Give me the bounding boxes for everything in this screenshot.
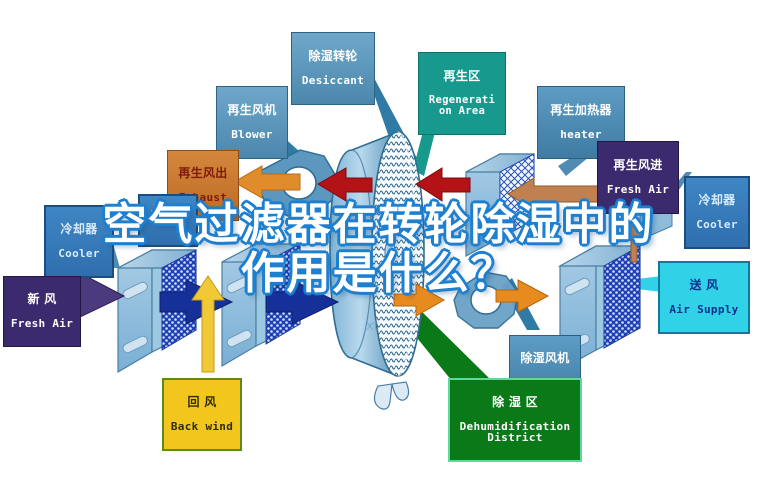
label-fresh-air-inlet[interactable]: 新 风 Fresh Air (3, 276, 81, 347)
label-regeneration-fresh-air[interactable]: 再生风进 Fresh Air (597, 141, 679, 214)
label-regeneration-heater-cn: 再生加热器 (540, 104, 622, 117)
diagram-canvas: xt (0, 0, 757, 488)
label-regeneration-area[interactable]: 再生区 Regenerati on Area (418, 52, 506, 135)
label-cooler-left[interactable]: 冷却器 Cooler (44, 205, 114, 278)
label-regeneration-fresh-air-en: Fresh Air (600, 184, 676, 196)
label-regeneration-blower[interactable]: 再生风机 Blower (216, 86, 288, 159)
label-desiccant-wheel-cn: 除湿转轮 (294, 50, 372, 63)
arrow-supply-blue-2 (266, 280, 338, 324)
label-cooler-mid-cn: 冷却器 (142, 210, 194, 222)
label-regeneration-heater-en: heater (540, 129, 622, 141)
label-back-wind-en: Back wind (166, 421, 238, 433)
label-back-wind-cn: 回 风 (166, 396, 238, 409)
label-regeneration-area-cn: 再生区 (421, 70, 503, 83)
label-dehumidification-district-en: Dehumidification District (452, 421, 578, 444)
arrow-dehum-orange-1 (394, 284, 444, 316)
label-cooler-right-en: Cooler (688, 219, 746, 231)
label-fresh-air-inlet-cn: 新 风 (6, 293, 78, 306)
arrow-regen-fresh-air-riser (625, 214, 643, 262)
label-fresh-air-inlet-en: Fresh Air (6, 318, 78, 330)
label-cooler-left-en: Cooler (48, 248, 110, 260)
label-air-supply[interactable]: 送 风 Air Supply (658, 261, 750, 334)
arrow-supply-blue-1 (160, 280, 232, 324)
label-regeneration-blower-cn: 再生风机 (219, 104, 285, 117)
label-regeneration-blower-en: Blower (219, 129, 285, 141)
label-back-wind[interactable]: 回 风 Back wind (162, 378, 242, 451)
label-desiccant-wheel-en: Desiccant (294, 75, 372, 87)
label-cooler-mid[interactable]: 冷却器 (138, 194, 198, 247)
label-cooler-right[interactable]: 冷却器 Cooler (684, 176, 750, 249)
label-dehumidification-district[interactable]: 除 湿 区 Dehumidification District (448, 378, 582, 462)
arrow-dehum-orange-2 (496, 280, 548, 312)
label-regeneration-area-en: Regenerati on Area (421, 95, 503, 117)
label-dehumidification-district-cn: 除 湿 区 (452, 396, 578, 409)
label-air-supply-cn: 送 风 (662, 279, 746, 292)
arrow-regen-red-left (318, 168, 372, 201)
arrow-regen-red-right (416, 168, 470, 201)
label-regeneration-exhaust-cn: 再生风出 (170, 167, 236, 180)
label-desiccant-wheel[interactable]: 除湿转轮 Desiccant (291, 32, 375, 105)
label-cooler-right-cn: 冷却器 (688, 194, 746, 207)
label-cooler-left-cn: 冷却器 (48, 223, 110, 236)
label-dehumidification-blower-cn: 除湿风机 (512, 352, 578, 365)
label-air-supply-en: Air Supply (662, 304, 746, 316)
label-regeneration-fresh-air-cn: 再生风进 (600, 159, 676, 172)
arrow-regeneration-exhaust (234, 166, 300, 198)
